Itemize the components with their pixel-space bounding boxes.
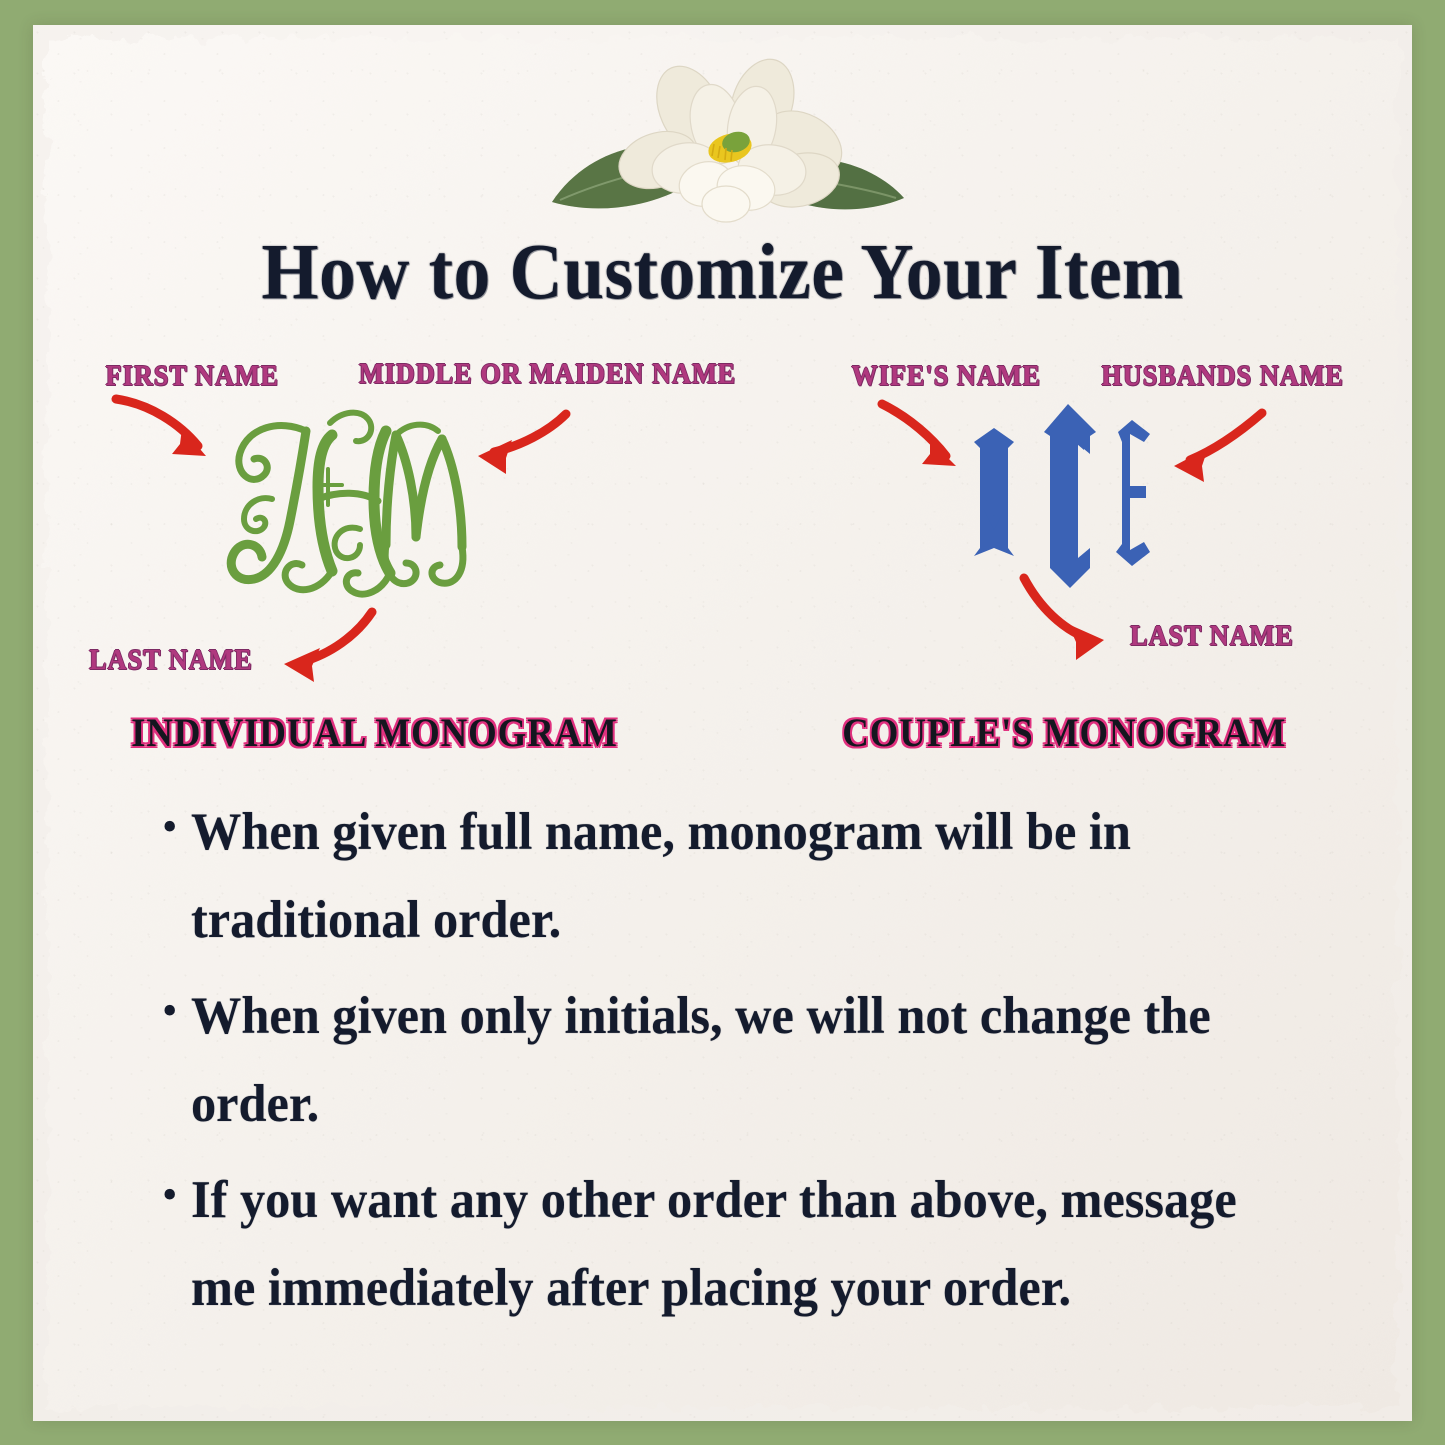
list-item: • If you want any other order than above… xyxy=(162,1156,1322,1332)
bullet-dot-icon: • xyxy=(162,970,177,1052)
label-last-name-left: LAST NAME xyxy=(89,644,253,677)
label-last-name-right: LAST NAME xyxy=(1130,620,1294,653)
bullet-dot-icon: • xyxy=(162,786,177,868)
heading-individual-monogram: INDIVIDUAL MONOGRAM xyxy=(131,709,618,756)
label-middle-or-maiden-name: MIDDLE OR MAIDEN NAME xyxy=(359,358,736,391)
heading-couple-monogram: COUPLE'S MONOGRAM xyxy=(842,709,1286,756)
instruction-text-1: When given full name, monogram will be i… xyxy=(191,788,1265,964)
page-title: How to Customize Your Item xyxy=(51,228,1395,318)
couple-monogram-graphic xyxy=(950,398,1190,603)
label-first-name: FIRST NAME xyxy=(106,360,279,393)
list-item: • When given only initials, we will not … xyxy=(162,972,1322,1148)
list-item: • When given full name, monogram will be… xyxy=(162,788,1322,964)
individual-monogram-graphic xyxy=(210,395,510,620)
label-wifes-name: WIFE'S NAME xyxy=(852,360,1042,393)
arrow-wifes-name xyxy=(882,404,956,466)
instruction-text-3: If you want any other order than above, … xyxy=(191,1156,1265,1332)
arrow-last-name-left xyxy=(284,612,372,682)
bullet-dot-icon: • xyxy=(162,1154,177,1236)
instruction-text-2: When given only initials, we will not ch… xyxy=(191,972,1265,1148)
label-husbands-name: HUSBANDS NAME xyxy=(1101,360,1343,393)
magnolia-flower-icon xyxy=(540,52,920,237)
instructions-list: • When given full name, monogram will be… xyxy=(162,788,1322,1340)
arrow-first-name xyxy=(116,399,206,456)
